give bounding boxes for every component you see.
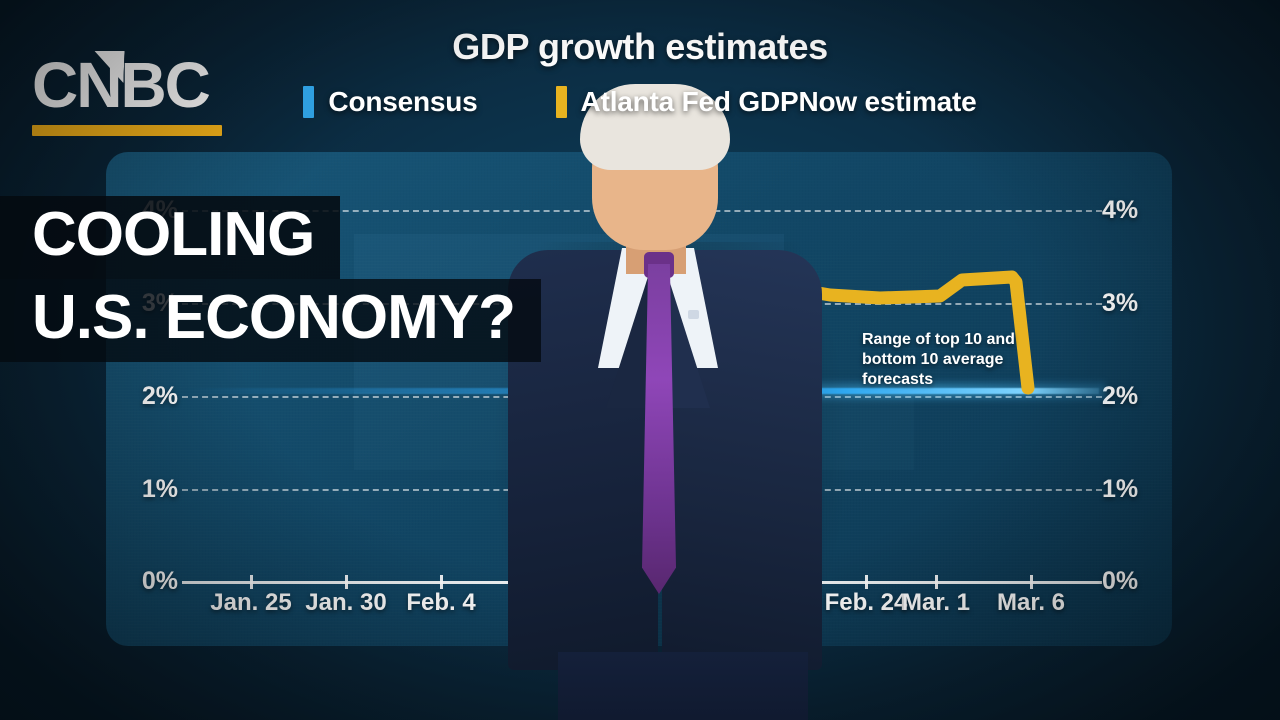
y-axis-label-left-1: 1%: [124, 475, 178, 504]
y-axis-label-right-3: 3%: [1102, 289, 1162, 318]
video-frame: 4% 3% 2% 1% 0% 4% 3% 2% 1% 0% Jan. 25 Ja…: [0, 0, 1280, 720]
headline-band-1: COOLING: [0, 196, 340, 279]
figure-photo: [430, 52, 860, 720]
headline-row-1: COOLING: [0, 196, 541, 279]
x-axis-label-5: Mar. 6: [997, 589, 1065, 617]
y-axis-label-right-0: 0%: [1102, 567, 1162, 596]
headline-row-2: U.S. ECONOMY?: [0, 279, 541, 362]
x-tick-mark: [865, 575, 868, 589]
cnbc-logo-underline: [32, 125, 222, 136]
x-tick-mark: [935, 575, 938, 589]
y-axis-label-left-0: 0%: [124, 567, 178, 596]
legend-swatch-blue-icon: [303, 86, 314, 118]
y-axis-label-left-2: 2%: [124, 382, 178, 411]
y-axis-label-right-1: 1%: [1102, 475, 1162, 504]
x-tick-mark: [1030, 575, 1033, 589]
y-axis-label-right-4: 4%: [1102, 196, 1162, 225]
figure-hair: [580, 84, 730, 170]
headline-band-2: U.S. ECONOMY?: [0, 279, 541, 362]
headline-line-1: COOLING: [32, 200, 314, 269]
cnbc-logo: CNBC: [32, 55, 232, 136]
cnbc-wordmark: CNBC: [32, 55, 232, 116]
figure-legs: [558, 652, 808, 720]
headline-line-2: U.S. ECONOMY?: [32, 283, 515, 352]
x-axis-label-4: Mar. 1: [902, 589, 970, 617]
x-axis-label-0: Jan. 25: [210, 589, 291, 617]
headline: COOLING U.S. ECONOMY?: [0, 196, 541, 362]
x-tick-mark: [250, 575, 253, 589]
chart-annotation: Range of top 10 and bottom 10 average fo…: [862, 330, 1072, 390]
y-axis-label-right-2: 2%: [1102, 382, 1162, 411]
x-tick-mark: [345, 575, 348, 589]
lapel-pin-icon: [688, 310, 699, 319]
x-axis-label-1: Jan. 30: [305, 589, 386, 617]
